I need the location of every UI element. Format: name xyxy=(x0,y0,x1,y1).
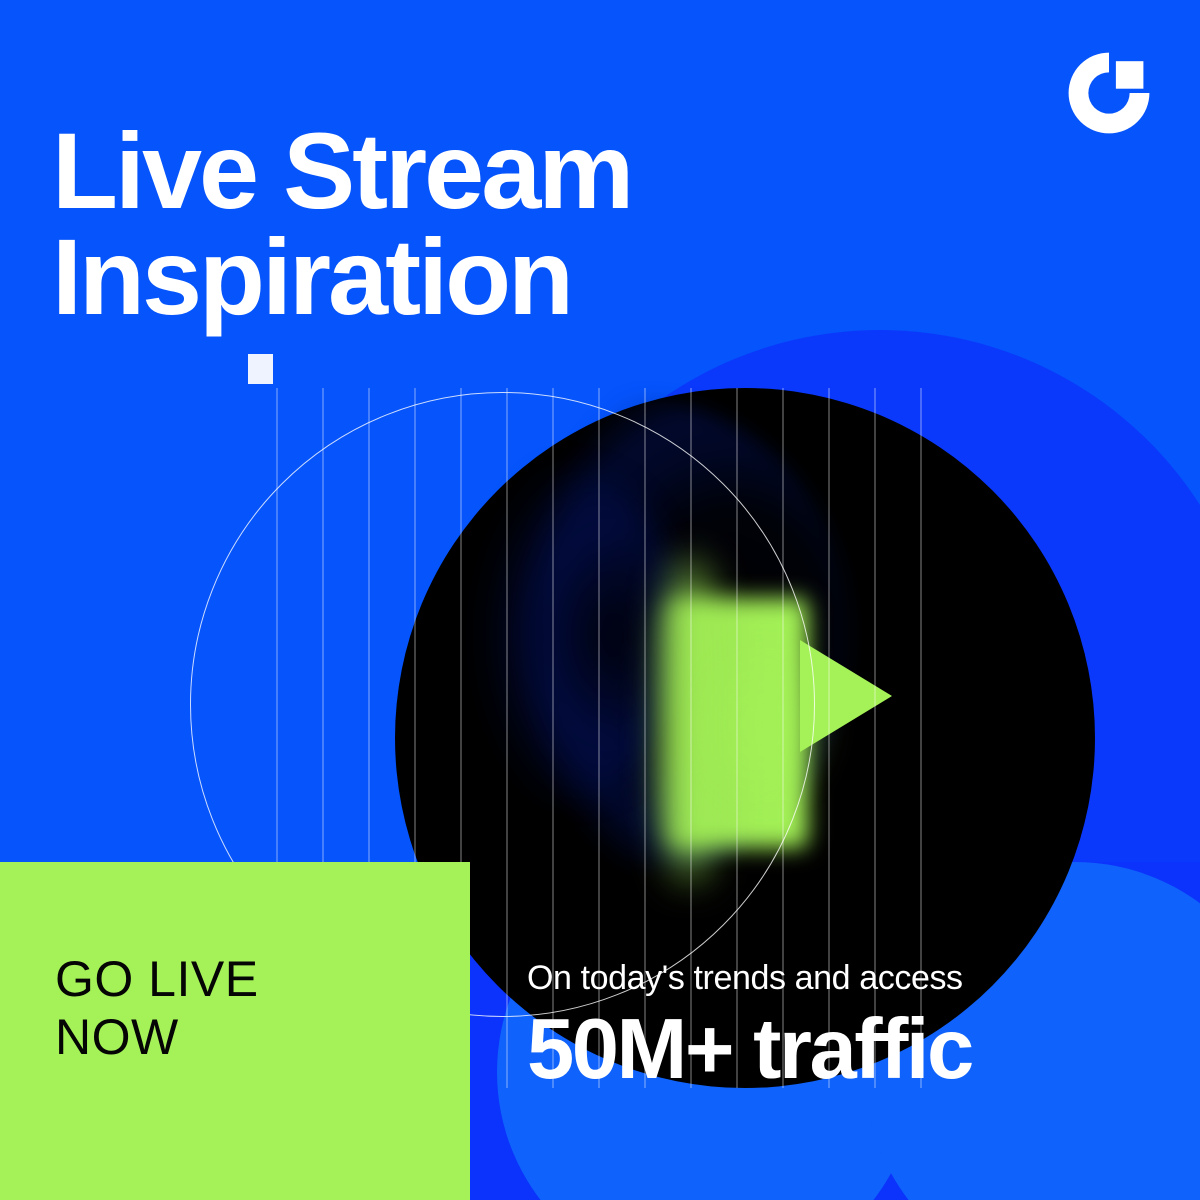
square-tick-icon xyxy=(248,354,273,384)
poster-canvas: Live Stream Inspiration GO LIVE NOW On t… xyxy=(0,0,1200,1200)
promo-block: On today's trends and access 50M+ traffi… xyxy=(527,960,972,1092)
promo-kicker: On today's trends and access xyxy=(527,960,972,997)
promo-headline: 50M+ traffic xyxy=(527,1007,972,1092)
go-live-label: GO LIVE NOW xyxy=(55,950,259,1066)
page-title: Live Stream Inspiration xyxy=(52,118,631,330)
g-ring-logo-icon[interactable] xyxy=(1066,50,1152,136)
go-live-panel[interactable]: GO LIVE NOW xyxy=(0,862,470,1200)
